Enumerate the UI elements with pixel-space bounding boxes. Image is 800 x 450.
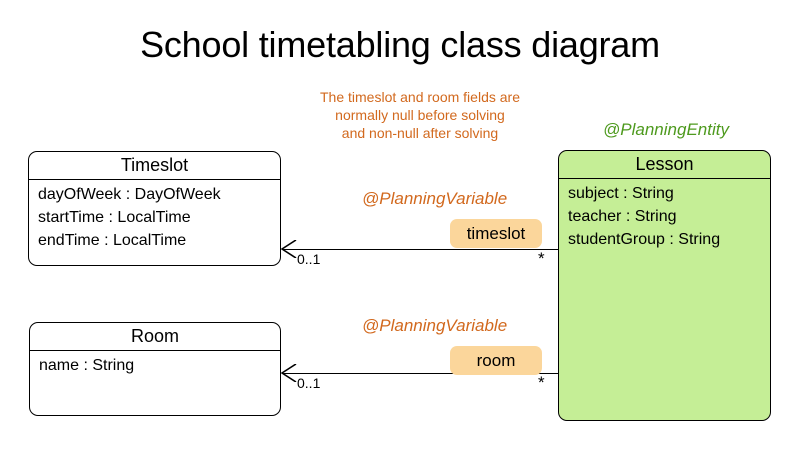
multiplicity-room-target: 0..1: [297, 375, 320, 391]
class-name-lesson: Lesson: [559, 151, 770, 179]
planning-entity-stereotype: @PlanningEntity: [560, 120, 772, 140]
class-name-room: Room: [30, 323, 280, 351]
solving-note-line-3: and non-null after solving: [280, 124, 560, 142]
open-arrowhead-icon: [281, 240, 297, 258]
multiplicity-timeslot-source: *: [538, 249, 545, 269]
class-attributes-timeslot: dayOfWeek : DayOfWeek startTime : LocalT…: [29, 180, 280, 252]
attribute-row: dayOfWeek : DayOfWeek: [38, 183, 280, 206]
field-badge-timeslot[interactable]: timeslot: [450, 219, 542, 248]
class-box-timeslot[interactable]: Timeslot dayOfWeek : DayOfWeek startTime…: [28, 151, 281, 266]
attribute-row: studentGroup : String: [568, 228, 770, 251]
page-title: School timetabling class diagram: [0, 24, 800, 66]
multiplicity-room-source: *: [538, 373, 545, 393]
association-line-lesson-timeslot: [282, 249, 559, 250]
solving-note: The timeslot and room fields are normall…: [280, 88, 560, 142]
attribute-row: subject : String: [568, 182, 770, 205]
planning-variable-stereotype-room: @PlanningVariable: [362, 316, 507, 336]
attribute-row: name : String: [39, 354, 280, 377]
class-box-room[interactable]: Room name : String: [29, 322, 281, 416]
multiplicity-timeslot-target: 0..1: [297, 251, 320, 267]
field-badge-room[interactable]: room: [450, 346, 542, 375]
class-diagram-canvas: School timetabling class diagram The tim…: [0, 0, 800, 450]
attribute-row: startTime : LocalTime: [38, 206, 280, 229]
class-attributes-lesson: subject : String teacher : String studen…: [559, 179, 770, 251]
attribute-row: teacher : String: [568, 205, 770, 228]
planning-variable-stereotype-timeslot: @PlanningVariable: [362, 189, 507, 209]
solving-note-line-1: The timeslot and room fields are: [280, 88, 560, 106]
class-box-lesson[interactable]: Lesson subject : String teacher : String…: [558, 150, 771, 421]
class-name-timeslot: Timeslot: [29, 152, 280, 180]
attribute-row: endTime : LocalTime: [38, 229, 280, 252]
solving-note-line-2: normally null before solving: [280, 106, 560, 124]
open-arrowhead-icon: [281, 364, 297, 382]
class-attributes-room: name : String: [30, 351, 280, 377]
